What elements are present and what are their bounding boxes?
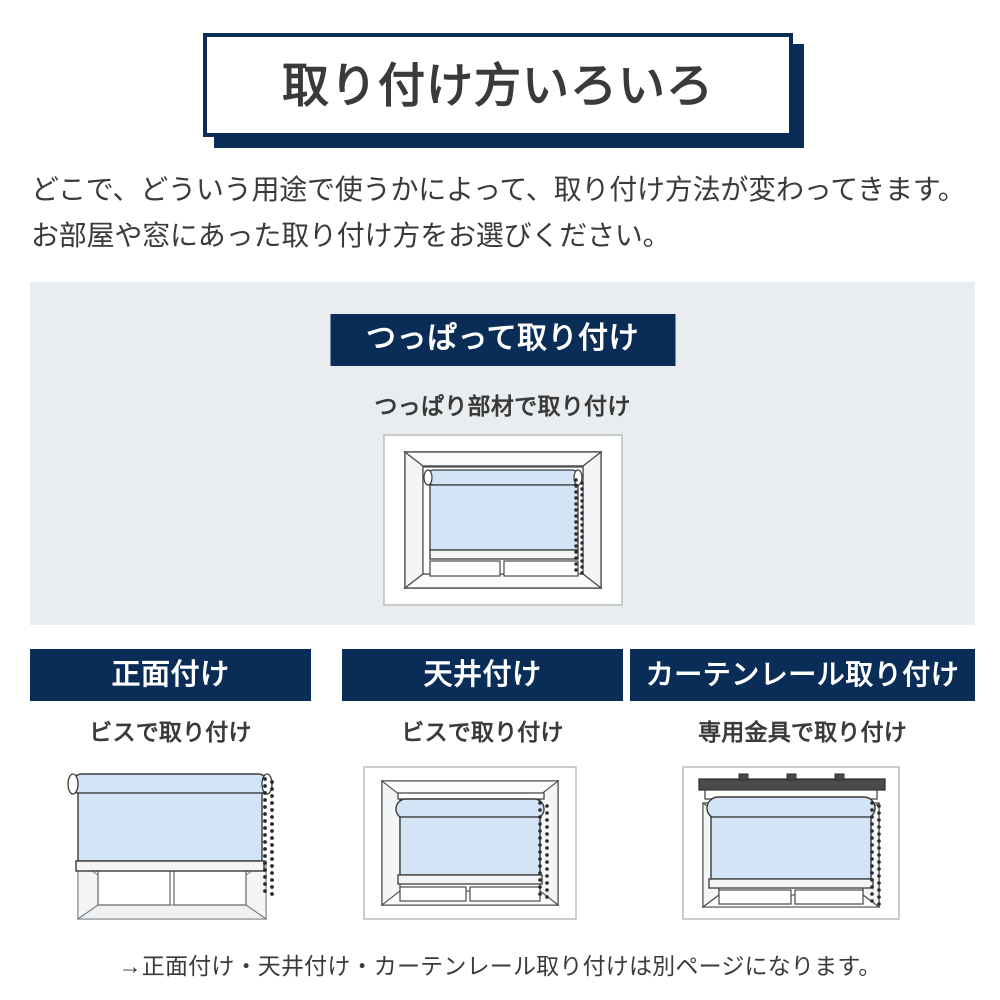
featured-method-panel: つっぱって取り付け つっぱり部材で取り付け [30, 282, 975, 625]
method-card-badge: カーテンレール取り付け [630, 649, 975, 701]
method-card-subtitle: ビスで取り付け [342, 713, 623, 747]
title-box: 取り付け方いろいろ [203, 33, 793, 137]
featured-method-subtitle: つっぱり部材で取り付け [30, 387, 975, 421]
featured-method-badge: つっぱって取り付け [330, 314, 675, 366]
method-card-group: 正面付け ビスで取り付け [30, 649, 975, 934]
lead-paragraph: どこで、どういう用途で使うかによって、取り付け方法が変わってきます。 お部屋や窓… [31, 167, 981, 259]
roller-blind-in-window-recess-illustration [383, 434, 623, 606]
roller-blind-ceiling-mount-illustration [348, 757, 618, 927]
method-card-ceiling-mount[interactable]: 天井付け ビスで取り付け [342, 649, 623, 927]
method-card-face-mount[interactable]: 正面付け ビスで取り付け [30, 649, 311, 927]
method-card-curtain-rail-mount[interactable]: カーテンレール取り付け 専用金具で取り付け [630, 649, 975, 927]
lead-line-2: お部屋や窓にあった取り付け方をお選びください。 [31, 213, 981, 259]
page-title: 取り付け方いろいろ [282, 62, 714, 109]
footnote-other-pages: →正面付け・天井付け・カーテンレール取り付けは別ページになります。 [0, 947, 1000, 981]
method-card-badge: 正面付け [30, 649, 311, 701]
method-card-subtitle: ビスで取り付け [30, 713, 311, 747]
method-card-subtitle: 専用金具で取り付け [630, 713, 975, 747]
lead-line-1: どこで、どういう用途で使うかによって、取り付け方法が変わってきます。 [31, 167, 981, 213]
roller-blind-curtain-rail-mount-illustration [663, 757, 943, 927]
method-card-badge: 天井付け [342, 649, 623, 701]
roller-blind-face-mount-illustration [36, 757, 306, 927]
page-title-banner: 取り付け方いろいろ [203, 33, 793, 137]
